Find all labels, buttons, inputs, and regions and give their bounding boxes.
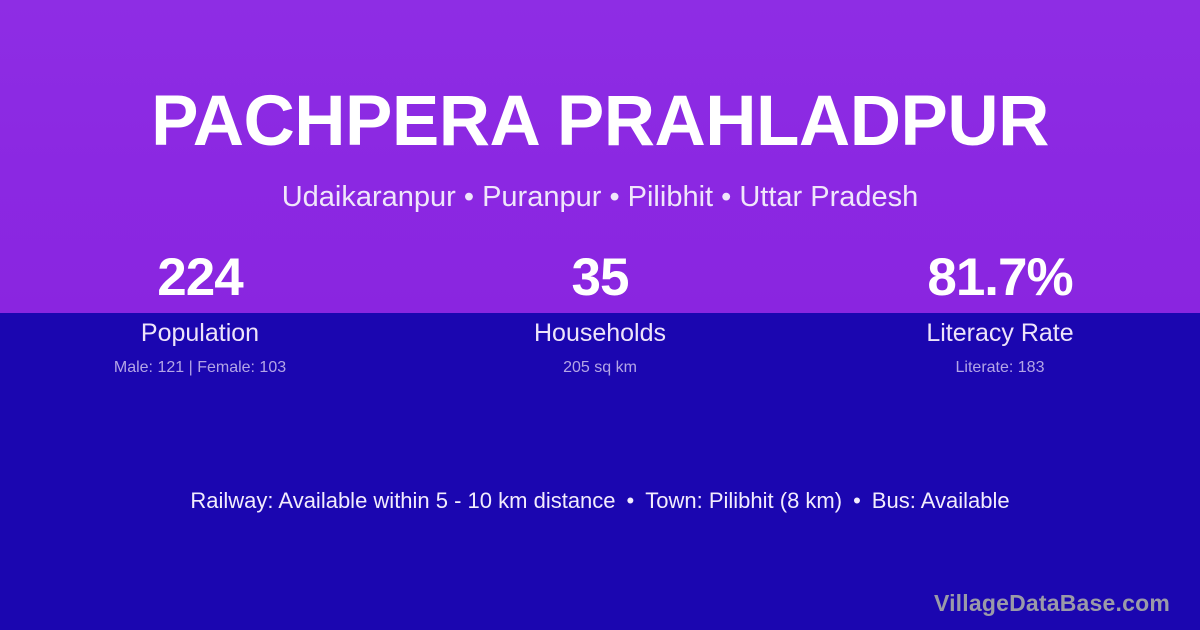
stat-value-households: 35 xyxy=(400,243,800,313)
stat-value-population: 224 xyxy=(0,243,400,313)
infra-town: Town: Pilibhit (8 km) xyxy=(645,488,842,513)
infra-railway: Railway: Available within 5 - 10 km dist… xyxy=(190,488,615,513)
stat-sub-households: 205 sq km xyxy=(400,357,800,379)
infrastructure-line: Railway: Available within 5 - 10 km dist… xyxy=(0,486,1200,516)
stat-value-literacy-rate: 81.7% xyxy=(800,243,1200,313)
infra-bus: Bus: Available xyxy=(872,488,1010,513)
infra-separator-2: • xyxy=(842,486,872,516)
location-breadcrumb: Udaikaranpur • Puranpur • Pilibhit • Utt… xyxy=(0,182,1200,214)
site-brand-watermark: VillageDataBase.com xyxy=(934,588,1170,618)
stat-label-literacy-rate: Literacy Rate xyxy=(800,317,1200,349)
stat-literacy-rate: 81.7% Literacy Rate Literate: 183 xyxy=(800,243,1200,379)
page-title: PACHPERA PRAHLADPUR xyxy=(0,86,1200,157)
stat-households: 35 Households 205 sq km xyxy=(400,243,800,379)
stat-population: 224 Population Male: 121 | Female: 103 xyxy=(0,243,400,379)
stat-sub-population: Male: 121 | Female: 103 xyxy=(0,357,400,379)
infra-separator-1: • xyxy=(616,486,646,516)
stat-label-population: Population xyxy=(0,317,400,349)
stat-label-households: Households xyxy=(400,317,800,349)
village-info-card: PACHPERA PRAHLADPUR Udaikaranpur • Puran… xyxy=(0,0,1200,630)
stat-sub-literacy-rate: Literate: 183 xyxy=(800,357,1200,379)
stats-row: 224 Population Male: 121 | Female: 103 3… xyxy=(0,243,1200,379)
